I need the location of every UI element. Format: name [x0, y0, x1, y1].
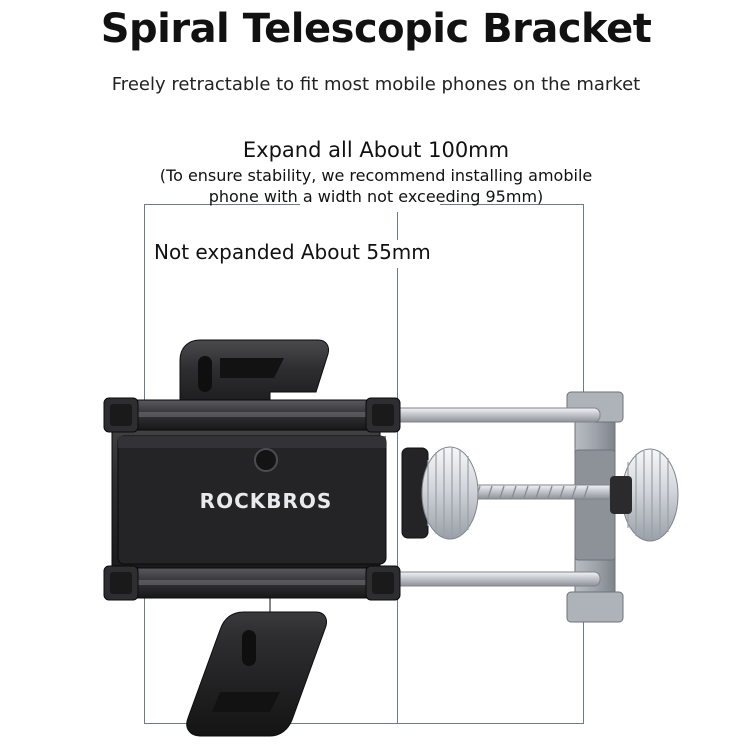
- right-adjustment-knob: [610, 449, 678, 541]
- not-expanded-label: Not expanded About 55mm: [150, 240, 435, 264]
- lower-phone-hook: [187, 582, 327, 736]
- stability-note-line-1: (To ensure stability, we recommend insta…: [0, 166, 752, 185]
- product-infographic: Spiral Telescopic Bracket Freely retract…: [0, 0, 752, 752]
- product-photo: ROCKBROS: [70, 300, 690, 752]
- stability-note-line-2: phone with a width not exceeding 95mm): [0, 187, 752, 206]
- expand-all-label: Expand all About 100mm: [0, 138, 752, 162]
- left-adjustment-knob: [402, 447, 478, 539]
- page-title: Spiral Telescopic Bracket: [0, 6, 752, 52]
- bracket-main-body: ROCKBROS: [112, 400, 386, 598]
- page-subtitle: Freely retractable to fit most mobile ph…: [0, 74, 752, 95]
- brand-text: ROCKBROS: [200, 489, 333, 513]
